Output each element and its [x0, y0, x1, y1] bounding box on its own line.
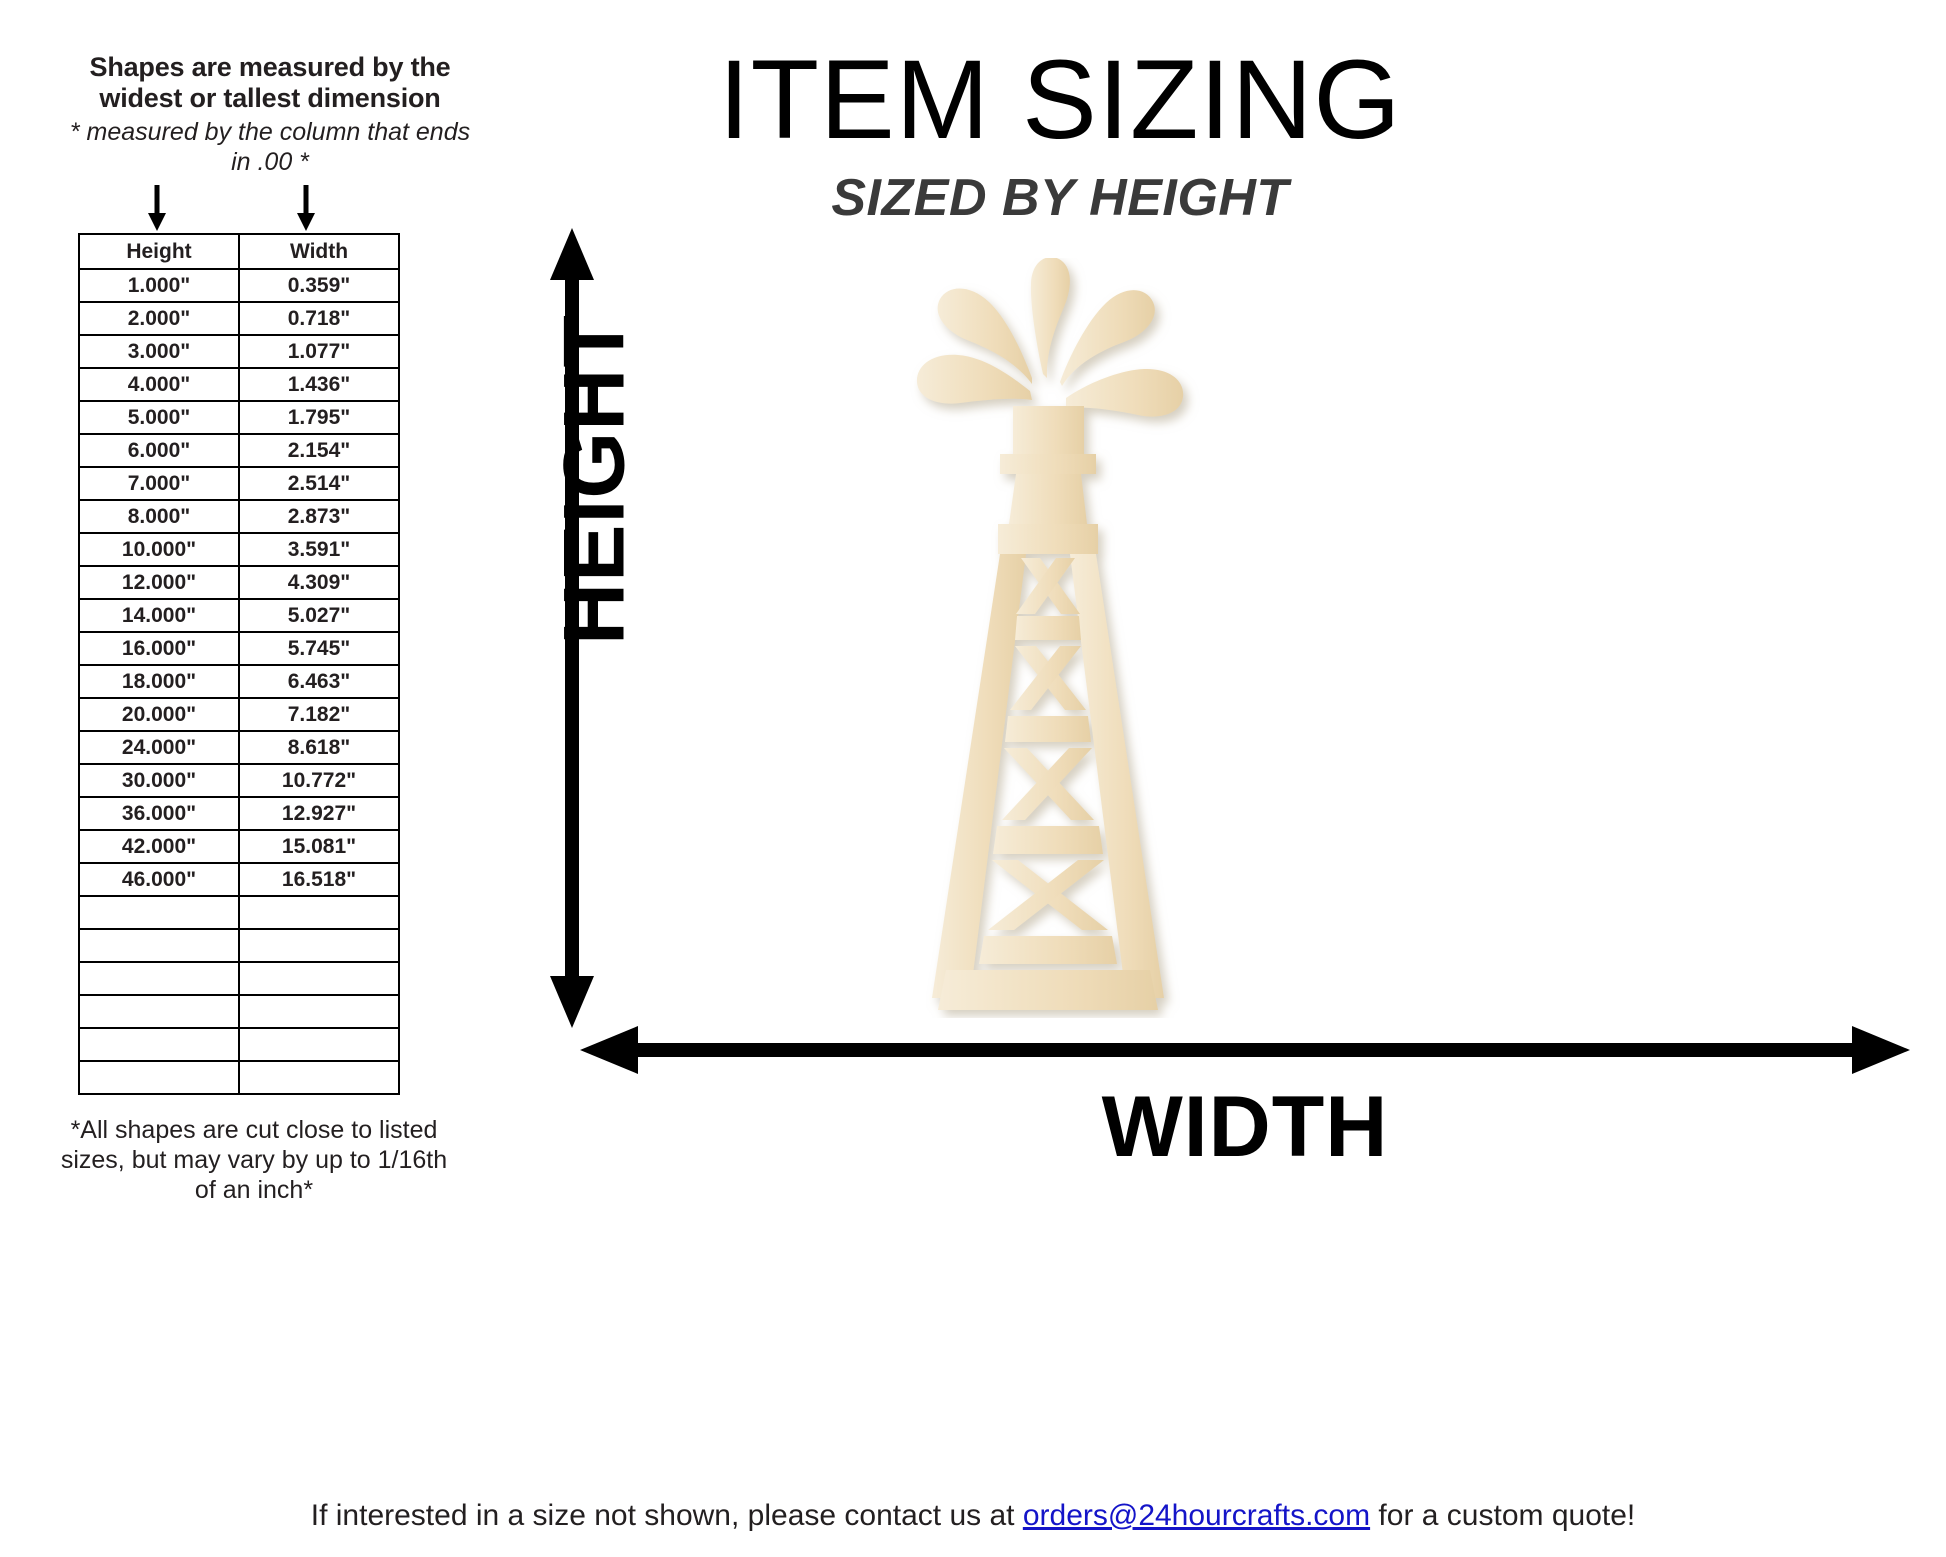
cell-width-empty [239, 1028, 399, 1061]
crown-cap [1000, 454, 1096, 474]
table-row: 5.000"1.795" [79, 401, 399, 434]
cell-width: 5.745" [239, 632, 399, 665]
mast-neck [1009, 474, 1087, 524]
cell-width: 2.154" [239, 434, 399, 467]
derrick-beam-3 [993, 826, 1103, 854]
size-chart-table: Height Width 1.000"0.359"2.000"0.718"3.0… [78, 233, 400, 1095]
column-header-height: Height [79, 234, 239, 269]
cell-height: 1.000" [79, 269, 239, 302]
contact-text-before: If interested in a size not shown, pleas… [311, 1499, 1023, 1532]
cell-width: 4.309" [239, 566, 399, 599]
table-row-empty [79, 929, 399, 962]
cell-width: 0.359" [239, 269, 399, 302]
cell-height: 14.000" [79, 599, 239, 632]
cell-width-empty [239, 929, 399, 962]
table-row-empty [79, 1028, 399, 1061]
table-row: 12.000"4.309" [79, 566, 399, 599]
cell-height: 46.000" [79, 863, 239, 896]
width-axis-label: WIDTH [580, 1078, 1910, 1177]
cell-height-empty [79, 896, 239, 929]
table-row-empty [79, 896, 399, 929]
cell-height: 16.000" [79, 632, 239, 665]
page-subtitle: SIZED BY HEIGHT [620, 168, 1500, 228]
cell-width: 15.081" [239, 830, 399, 863]
cell-width-empty [239, 896, 399, 929]
cell-height: 24.000" [79, 731, 239, 764]
crown-block [1013, 406, 1084, 454]
cell-height: 42.000" [79, 830, 239, 863]
down-arrow-width-icon [293, 185, 319, 231]
cell-height-empty [79, 929, 239, 962]
cell-height: 3.000" [79, 335, 239, 368]
contact-email-link[interactable]: orders@24hourcrafts.com [1023, 1499, 1370, 1532]
cell-width: 0.718" [239, 302, 399, 335]
cell-height: 2.000" [79, 302, 239, 335]
cell-width: 6.463" [239, 665, 399, 698]
column-header-width: Width [239, 234, 399, 269]
table-row: 20.000"7.182" [79, 698, 399, 731]
table-row-empty [79, 1061, 399, 1094]
derrick-top-platform [998, 524, 1098, 554]
cell-height: 36.000" [79, 797, 239, 830]
table-row: 4.000"1.436" [79, 368, 399, 401]
table-row: 18.000"6.463" [79, 665, 399, 698]
table-row-empty [79, 962, 399, 995]
cell-width: 1.436" [239, 368, 399, 401]
table-row: 36.000"12.927" [79, 797, 399, 830]
cell-height: 18.000" [79, 665, 239, 698]
table-row: 16.000"5.745" [79, 632, 399, 665]
table-row: 10.000"3.591" [79, 533, 399, 566]
cell-height: 4.000" [79, 368, 239, 401]
column-arrows [60, 185, 480, 233]
cell-width: 2.873" [239, 500, 399, 533]
derrick-beam-1 [1015, 616, 1081, 640]
height-axis-label: HEIGHT [546, 280, 645, 680]
cell-width-empty [239, 962, 399, 995]
table-row: 14.000"5.027" [79, 599, 399, 632]
table-row: 2.000"0.718" [79, 302, 399, 335]
cell-height-empty [79, 962, 239, 995]
table-row: 3.000"1.077" [79, 335, 399, 368]
cell-height: 8.000" [79, 500, 239, 533]
cell-width: 2.514" [239, 467, 399, 500]
cell-width: 10.772" [239, 764, 399, 797]
measurement-heading: Shapes are measured by the widest or tal… [60, 52, 480, 114]
cell-height-empty [79, 995, 239, 1028]
cell-height: 10.000" [79, 533, 239, 566]
cell-height: 30.000" [79, 764, 239, 797]
splash-drop-center [1031, 258, 1070, 378]
derrick-right-leg [1070, 554, 1164, 998]
cell-width: 1.795" [239, 401, 399, 434]
page-title: ITEM SIZING [620, 44, 1500, 156]
cell-height: 6.000" [79, 434, 239, 467]
width-double-arrow-icon [580, 1022, 1910, 1078]
table-row: 8.000"2.873" [79, 500, 399, 533]
cell-width: 7.182" [239, 698, 399, 731]
cell-width: 16.518" [239, 863, 399, 896]
table-row: 6.000"2.154" [79, 434, 399, 467]
cell-width: 5.027" [239, 599, 399, 632]
oil-derrick-wood-cutout-image [880, 258, 1240, 1018]
cell-height: 7.000" [79, 467, 239, 500]
contact-text-after: for a custom quote! [1370, 1499, 1635, 1532]
cell-height: 12.000" [79, 566, 239, 599]
cell-width-empty [239, 995, 399, 1028]
table-row: 1.000"0.359" [79, 269, 399, 302]
cell-height: 20.000" [79, 698, 239, 731]
derrick-beam-4 [979, 936, 1117, 964]
derrick-base [938, 970, 1158, 1010]
cell-height-empty [79, 1028, 239, 1061]
cell-height: 5.000" [79, 401, 239, 434]
table-row: 24.000"8.618" [79, 731, 399, 764]
cell-width: 1.077" [239, 335, 399, 368]
table-row: 42.000"15.081" [79, 830, 399, 863]
table-row-empty [79, 995, 399, 1028]
derrick-beam-2 [1005, 716, 1091, 742]
cell-width-empty [239, 1061, 399, 1094]
table-row: 7.000"2.514" [79, 467, 399, 500]
cell-width: 3.591" [239, 533, 399, 566]
size-variance-footnote: *All shapes are cut close to listed size… [54, 1115, 454, 1205]
derrick-body [917, 258, 1183, 1010]
measurement-subheading: * measured by the column that ends in .0… [60, 118, 480, 177]
table-header-row: Height Width [79, 234, 399, 269]
cell-width: 12.927" [239, 797, 399, 830]
cell-height-empty [79, 1061, 239, 1094]
table-row: 30.000"10.772" [79, 764, 399, 797]
table-row: 46.000"16.518" [79, 863, 399, 896]
sizing-info-panel: Shapes are measured by the widest or tal… [60, 52, 480, 1205]
down-arrow-height-icon [144, 185, 170, 231]
custom-quote-contact-line: If interested in a size not shown, pleas… [0, 1499, 1946, 1533]
derrick-left-leg [932, 554, 1026, 998]
oil-splash-group [917, 258, 1183, 417]
cell-width: 8.618" [239, 731, 399, 764]
